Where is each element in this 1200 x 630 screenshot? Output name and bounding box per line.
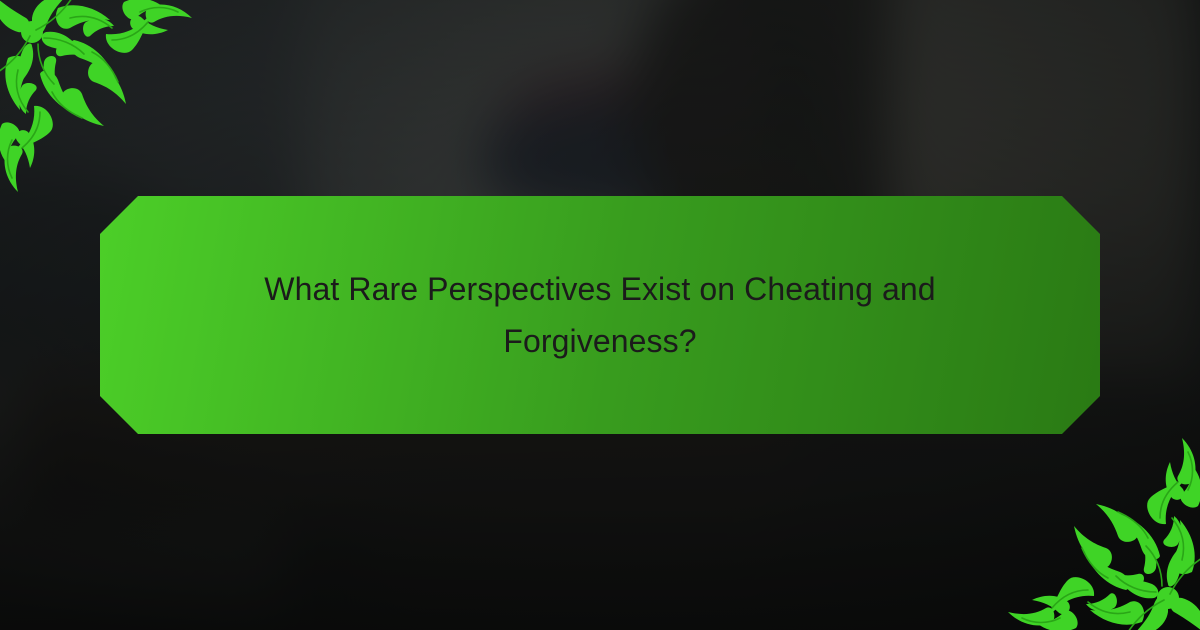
page-title: What Rare Perspectives Exist on Cheating…	[170, 263, 1030, 368]
floral-ornament-icon-top-left	[0, 0, 200, 200]
headline-banner: What Rare Perspectives Exist on Cheating…	[100, 196, 1100, 434]
floral-ornament-icon-bottom-right	[1000, 430, 1200, 630]
share-card: What Rare Perspectives Exist on Cheating…	[0, 0, 1200, 630]
